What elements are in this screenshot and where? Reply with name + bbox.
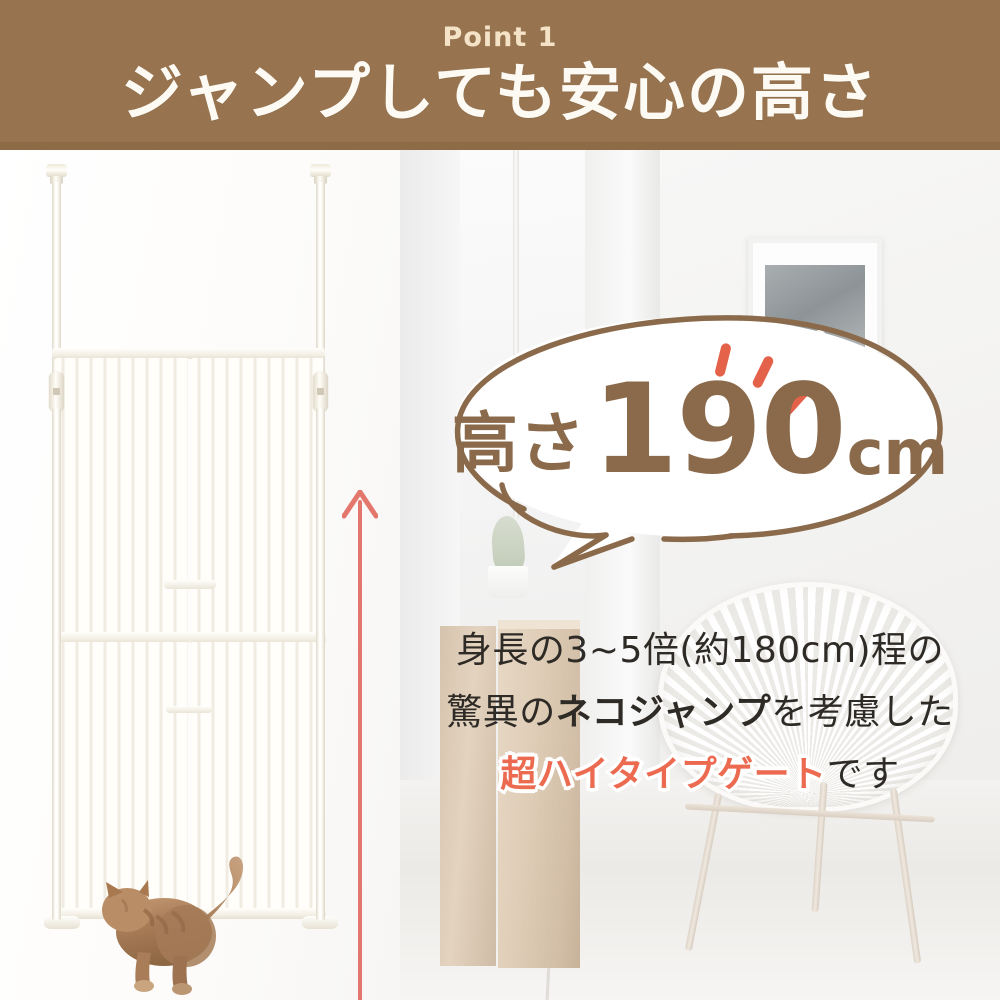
page-title: ジャンプしても安心の高さ (0, 54, 1000, 132)
bubble-unit: cm (847, 416, 948, 489)
description-line-2-suffix: を考慮した (771, 692, 954, 733)
content-area: 高さ 190 cm 身長の3~5倍(約180cm)程の 驚異のネコジャンプを考慮… (0, 150, 1000, 1000)
product-photo-panel (0, 150, 400, 1000)
bubble-number: 190 (592, 368, 845, 492)
description-line-1: 身長の3~5倍(約180cm)程の (400, 620, 1000, 682)
gate-leaf-upper-right (192, 358, 323, 636)
height-speech-bubble: 高さ 190 cm (440, 305, 960, 575)
chair-leg-front-left (685, 793, 722, 951)
description-line-2-emphasis: ネコジャンプ (556, 692, 771, 733)
description-block: 身長の3~5倍(約180cm)程の 驚異のネコジャンプを考慮した 超ハイタイプゲ… (400, 620, 1000, 806)
description-line-2: 驚異のネコジャンプを考慮した (400, 682, 1000, 744)
tension-pole-left-lower (52, 408, 61, 920)
gate-leaf-upper-left (56, 358, 188, 636)
header-underline (0, 142, 1000, 150)
pole-bracket-left (49, 372, 64, 412)
cat-illustration (82, 840, 272, 1000)
header-banner: Point 1 ジャンプしても安心の高さ (0, 0, 1000, 150)
description-highlight: 超ハイタイプゲート (500, 754, 826, 795)
bubble-prefix: 高さ (452, 390, 586, 486)
point-label: Point 1 (0, 22, 1000, 53)
gate-latch-lower[interactable] (166, 706, 212, 713)
gate-foot-left (44, 916, 80, 929)
description-line-3-tail: です (827, 754, 900, 795)
description-line-3: 超ハイタイプゲートです (400, 744, 1000, 806)
page-root: Point 1 ジャンプしても安心の高さ (0, 0, 1000, 1000)
gate-latch[interactable] (164, 580, 216, 589)
bubble-text-group: 高さ 190 cm (440, 305, 960, 555)
pole-bracket-right (313, 372, 328, 412)
tension-pole-right-lower (316, 408, 325, 920)
arrow-head-up-icon (342, 490, 378, 520)
description-line-2-prefix: 驚異の (446, 692, 556, 733)
room-photo-panel (400, 150, 1000, 1000)
height-measure-line (358, 500, 362, 1000)
